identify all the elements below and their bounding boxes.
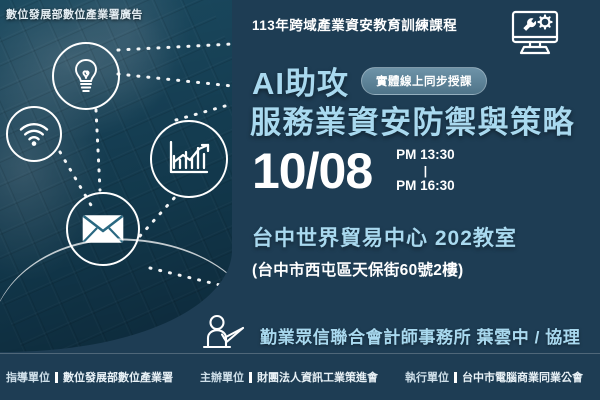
venue-name: 台中世界貿易中心 202教室 — [252, 222, 517, 252]
speaker-row: 勤業眾信聯合會計師事務所 葉雲中 / 協理 — [200, 314, 581, 356]
footer-item-guidance: 指導單位 數位發展部數位產業署 — [6, 369, 173, 385]
event-time-range: PM 13:30 | PM 16:30 — [396, 147, 455, 195]
course-poster: 數位發展部數位產業署廣告 113年跨域產業資安教育訓練課程 AI助攻 實體線上同… — [0, 0, 600, 400]
delivery-mode-badge: 實體線上同步授課 — [361, 67, 487, 95]
footer-role-executor: 執行單位 — [405, 369, 449, 385]
event-date: 10/08 — [252, 146, 372, 196]
footer-separator-bar — [454, 372, 457, 383]
lightbulb-icon — [52, 42, 120, 110]
advertiser-label: 數位發展部數位產業署廣告 — [6, 6, 143, 22]
footer-bar: 指導單位 數位發展部數位產業署 主辦單位 財團法人資訊工業策進會 執行單位 台中… — [0, 354, 600, 400]
lecturer-icon — [200, 314, 246, 356]
time-end: PM 16:30 — [396, 178, 455, 195]
footer-item-executor: 執行單位 台中市電腦商業同業公會 — [405, 369, 583, 385]
wifi-icon — [6, 106, 62, 162]
venue-address: (台中市西屯區天保街60號2樓) — [252, 258, 464, 280]
date-time-row: 10/08 PM 13:30 | PM 16:30 — [252, 146, 455, 196]
bar-chart-growth-icon — [150, 120, 228, 198]
envelope-icon — [66, 192, 140, 266]
hero-photo-panel — [0, 0, 232, 352]
speaker-name: 勤業眾信聯合會計師事務所 葉雲中 / 協理 — [260, 323, 581, 348]
footer-role-host: 主辦單位 — [200, 369, 244, 385]
subtitle: 服務業資安防禦與策略 — [250, 97, 575, 142]
footer-role-guidance: 指導單位 — [6, 369, 50, 385]
footer-org-guidance: 數位發展部數位產業署 — [63, 369, 173, 385]
footer-separator-bar — [249, 372, 252, 383]
monitor-settings-icon — [506, 8, 564, 58]
footer-separator-bar — [55, 372, 58, 383]
time-start: PM 13:30 — [396, 147, 455, 164]
time-separator: | — [424, 165, 427, 177]
footer-item-host: 主辦單位 財團法人資訊工業策進會 — [200, 369, 378, 385]
footer-org-host: 財團法人資訊工業策進會 — [257, 369, 378, 385]
footer-org-executor: 台中市電腦商業同業公會 — [462, 369, 583, 385]
course-series-title: 113年跨域產業資安教育訓練課程 — [252, 14, 457, 34]
